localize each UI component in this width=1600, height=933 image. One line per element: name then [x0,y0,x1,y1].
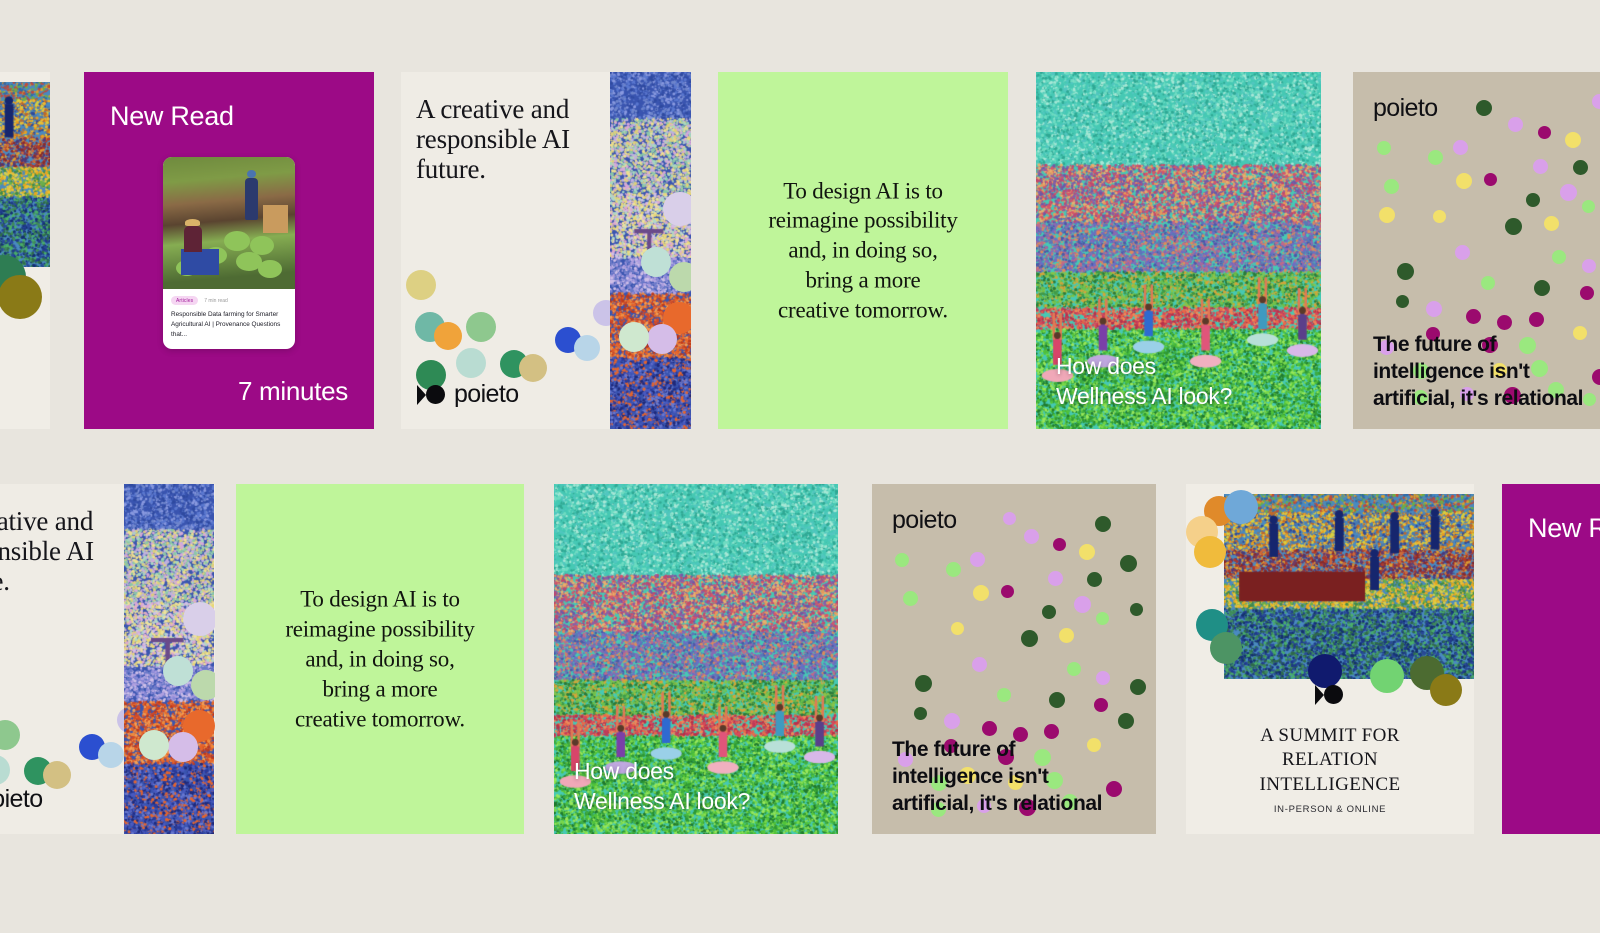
relational-headline: The future of intelligence isn't artific… [892,737,1146,818]
poster-row-2: A creative and responsible AI future. [0,484,1600,834]
pattern-dot [1379,207,1395,223]
pattern-dot [1053,538,1066,551]
pattern-dot [1505,218,1522,235]
article-headline: Responsible Data farming for Smarter Agr… [171,310,287,340]
pattern-dot [1573,160,1588,175]
pattern-dot [982,721,997,736]
creative-future-headline: A creative and responsible AI future. [0,506,120,597]
crate-shape [263,205,288,233]
confetti-dot [434,322,462,350]
summit-artwork [0,82,50,267]
brand-logo[interactable]: poieto [0,785,43,814]
new-read-title: New Read [1528,513,1600,544]
summit-title: A SUMMIT FOR RELATION INTELLIGENCE [1186,724,1474,797]
creative-future-card[interactable]: A creative and responsible AI future. [401,72,691,429]
poieto-logomark-icon [417,384,447,405]
wellness-caption: How does Wellness AI look? [1056,352,1232,411]
wellness-card[interactable]: How does Wellness AI look? [554,484,838,834]
pattern-dot [1024,529,1039,544]
pattern-dot [1059,628,1074,643]
pattern-dot [1003,512,1016,525]
blue-bag [181,249,219,275]
pattern-dot [915,675,932,692]
pattern-dot [1560,184,1577,201]
poster-row-1: New Read Articles 7 m [0,72,1600,429]
summit-artwork [1224,494,1474,679]
confetti-dot [574,335,600,361]
confetti-dot [0,720,20,750]
confetti-dot [1210,632,1242,664]
summit-subtitle: IN-PERSON & ONLINE [1186,804,1474,815]
pattern-dot [1118,713,1134,729]
summit-card[interactable]: A SUMMIT FOR RELATION INTELLIGENCE IN-PE… [1186,484,1474,834]
pattern-dot [895,553,909,567]
relational-headline: The future of intelligence isn't artific… [1373,332,1600,413]
pattern-dot [1497,315,1512,330]
pattern-dot [1048,571,1063,586]
pattern-dot [1095,516,1111,532]
creative-future-card-partial[interactable]: A creative and responsible AI future. [0,484,215,834]
confetti-dot [0,275,42,319]
pattern-dot [1508,117,1523,132]
pattern-dot [1476,100,1492,116]
pattern-dot [1453,140,1468,155]
brand-logo[interactable]: poieto [417,380,519,409]
poieto-logomark-icon [1315,684,1345,705]
pattern-dot [1552,250,1566,264]
pattern-dot [1582,200,1595,213]
pattern-dot [1433,210,1446,223]
pattern-dot [1096,671,1110,685]
confetti-dot [168,732,198,762]
summit-card-partial[interactable] [0,72,50,429]
confetti-dot [163,656,193,686]
pattern-dot [1481,276,1495,290]
confetti-dot [1224,490,1258,524]
pattern-dot [1384,179,1399,194]
pattern-dot [1079,544,1095,560]
brand-wordmark: poieto [454,380,519,409]
wellness-caption: How does Wellness AI look? [574,757,750,816]
pattern-dot [1049,692,1065,708]
pattern-dot [944,713,960,729]
confetti-dot [139,730,169,760]
confetti-dot [1370,659,1404,693]
pattern-dot [1526,193,1540,207]
pattern-dot [1580,286,1594,300]
pattern-dot [1130,679,1146,695]
pattern-dot [1466,309,1481,324]
figure-standing [245,178,258,220]
article-read-time: 7 min read [204,298,228,304]
confetti-dot [1308,654,1342,688]
confetti-dot [456,348,486,378]
pattern-dot [1582,259,1596,273]
gallery-stage: New Read Articles 7 m [0,0,1600,933]
confetti-dot [466,312,496,342]
pattern-dot [1484,173,1497,186]
new-read-card-partial[interactable]: New Read [1502,484,1600,834]
article-thumbnail [163,157,295,289]
confetti-dot [0,755,10,785]
quote-text: To design AI is to reimagine possibility… [718,176,1008,325]
pattern-dot [1074,596,1091,613]
pattern-dot [1120,555,1137,572]
relational-card[interactable]: poieto The future of intelligence isn't … [872,484,1156,834]
pattern-dot [1533,159,1548,174]
pattern-dot [1565,132,1581,148]
confetti-dot [1430,674,1462,706]
pattern-dot [1067,662,1081,676]
confetti-dot [647,324,677,354]
wellness-card[interactable]: How does Wellness AI look? [1036,72,1321,429]
pattern-dot [1044,724,1059,739]
quote-card[interactable]: To design AI is to reimagine possibility… [718,72,1008,429]
article-category-badge: Articles [171,296,198,305]
pattern-dot [997,688,1011,702]
pattern-dot [1544,216,1559,231]
confetti-dot [98,742,124,768]
pattern-dot [1428,150,1443,165]
confetti-dot [183,602,215,636]
confetti-dot [641,247,671,277]
pattern-dot [1377,141,1391,155]
pattern-dot [1592,94,1600,109]
pattern-dot [1001,585,1014,598]
confetti-dot [519,354,547,382]
new-read-title: New Read [110,101,234,132]
pattern-dot [972,657,987,672]
pattern-dot [946,562,961,577]
pattern-dot [1397,263,1414,280]
pattern-dot [1396,295,1409,308]
pattern-dot [1021,630,1038,647]
pattern-dot [973,585,989,601]
quote-text: To design AI is to reimagine possibility… [236,584,524,733]
pattern-dot [1534,280,1550,296]
pattern-dot [1130,603,1143,616]
new-read-card[interactable]: New Read Articles 7 m [84,72,374,429]
pattern-dot [951,622,964,635]
confetti-dot [669,262,691,292]
pattern-dot [1426,301,1442,317]
confetti-dot [1194,536,1226,568]
pattern-dot [1456,173,1472,189]
confetti-dot [663,192,691,226]
article-meta: Articles 7 min read [171,296,287,305]
pattern-dot [903,591,918,606]
pattern-dot [1455,245,1470,260]
new-read-duration: 7 minutes [238,376,348,407]
confetti-dot [406,270,436,300]
relational-card-partial[interactable]: poieto The future of intelligence isn't … [1353,72,1600,429]
article-preview-card[interactable]: Articles 7 min read Responsible Data far… [163,157,295,349]
pattern-dot [970,552,985,567]
creative-future-headline: A creative and responsible AI future. [416,94,596,185]
pattern-dot [1042,605,1056,619]
pattern-dot [1087,572,1102,587]
pattern-dot [1096,612,1109,625]
confetti-dot [619,322,649,352]
pattern-dot [1538,126,1551,139]
article-preview-body: Articles 7 min read Responsible Data far… [163,289,295,349]
brand-wordmark: poieto [0,785,43,814]
quote-card[interactable]: To design AI is to reimagine possibility… [236,484,524,834]
pattern-dot [914,707,927,720]
pattern-dot [1094,698,1108,712]
confetti-dot [43,761,71,789]
confetti-dot [191,670,215,700]
figure-crouching [184,226,202,252]
pattern-dot [1529,312,1544,327]
